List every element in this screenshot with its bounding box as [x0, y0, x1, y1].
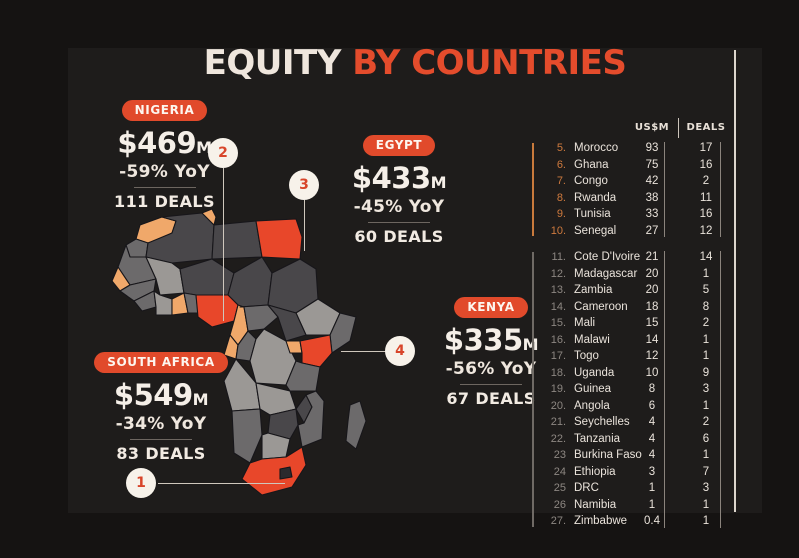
table-row[interactable]: 5.Morocco9317 [542, 140, 743, 157]
country-chad [228, 257, 272, 307]
country-madagascar [346, 401, 366, 449]
table-cell-rank: 19. [542, 381, 566, 397]
table-cell-usm: 38 [628, 190, 676, 206]
table-cell-deals: 16 [684, 206, 728, 222]
callout-kenya-divider [460, 384, 522, 385]
table-cell-deals: 5 [684, 282, 728, 298]
table-cell-usm: 20 [628, 282, 676, 298]
callout-egypt-divider [368, 222, 430, 223]
table-cell-deals: 1 [684, 497, 728, 513]
table-header-usm: US$M [628, 122, 676, 133]
table-cell-rank: 5. [542, 140, 566, 156]
callout-south-africa-yoy: -34% YoY [75, 415, 247, 434]
table-cell-rank: 9. [542, 206, 566, 222]
table-cell-country: Angola [574, 398, 610, 414]
table-cell-deals: 7 [684, 464, 728, 480]
country-kenya [300, 335, 332, 367]
callout-egypt-deals: 60 DEALS [320, 228, 478, 245]
table-cell-country: Namibia [574, 497, 616, 513]
table-group-top-bar [532, 143, 534, 236]
table-cell-deals: 1 [684, 332, 728, 348]
right-accent-line [734, 50, 736, 512]
table-cell-rank: 26 [542, 497, 566, 513]
table-cell-country: DRC [574, 480, 599, 496]
map-marker-4-label: 4 [395, 343, 405, 359]
callout-egypt-amount-value: $433 [352, 161, 431, 195]
table-cell-usm: 4 [628, 414, 676, 430]
map-marker-2-label: 2 [218, 145, 228, 161]
map-marker-3-label: 3 [299, 177, 309, 193]
table-cell-rank: 15. [542, 315, 566, 331]
callout-nigeria-badge: NIGERIA [122, 100, 208, 121]
callout-kenya-amount-value: $335 [444, 323, 523, 357]
table-cell-rank: 13. [542, 282, 566, 298]
table-row[interactable]: 11.Cote D'Ivoire2114 [542, 249, 743, 266]
table-cell-deals: 12 [684, 223, 728, 239]
page-title: EQUITY BY COUNTRIES [68, 46, 762, 80]
table-row[interactable]: 10.Senegal2712 [542, 223, 743, 240]
country-niger [180, 259, 234, 295]
table-cell-rank: 25 [542, 480, 566, 496]
table-row[interactable]: 7.Congo422 [542, 173, 743, 190]
table-cell-rank: 16. [542, 332, 566, 348]
table-cell-deals: 3 [684, 381, 728, 397]
table-cell-rank: 12. [542, 266, 566, 282]
table-cell-usm: 6 [628, 398, 676, 414]
table-row[interactable]: 20.Angola61 [542, 398, 743, 415]
callout-egypt: EGYPT $433M -45% YoY 60 DEALS [320, 135, 478, 245]
callout-south-africa-deals: 83 DEALS [75, 445, 247, 462]
table-cell-usm: 1 [628, 480, 676, 496]
table-cell-deals: 2 [684, 173, 728, 189]
table-header: US$M DEALS [528, 118, 743, 140]
table-row[interactable]: 8.Rwanda3811 [542, 190, 743, 207]
table-cell-country: Uganda [574, 365, 614, 381]
callout-south-africa-amount-value: $549 [114, 378, 193, 412]
connector-line-egypt [304, 200, 305, 251]
table-cell-usm: 10 [628, 365, 676, 381]
table-cell-deals: 2 [684, 414, 728, 430]
country-lesotho [280, 467, 292, 479]
connector-line-south-africa [158, 483, 285, 484]
table-cell-country: Tunisia [574, 206, 611, 222]
map-marker-1[interactable]: 1 [126, 468, 156, 498]
table-cell-rank: 11. [542, 249, 566, 265]
table-header-sep-1 [678, 118, 679, 138]
table-row[interactable]: 19.Guinea83 [542, 381, 743, 398]
table-group-rest-rows: 11.Cote D'Ivoire211412.Madagascar20113.Z… [542, 249, 743, 530]
table-cell-usm: 75 [628, 157, 676, 173]
table-row[interactable]: 18.Uganda109 [542, 365, 743, 382]
table-row[interactable]: 17.Togo121 [542, 348, 743, 365]
table-row[interactable]: 9.Tunisia3316 [542, 206, 743, 223]
map-marker-1-label: 1 [136, 475, 146, 491]
callout-south-africa: SOUTH AFRICA $549M -34% YoY 83 DEALS [75, 352, 247, 462]
table-cell-deals: 8 [684, 299, 728, 315]
table-cell-usm: 8 [628, 381, 676, 397]
table-cell-country: Cameroon [574, 299, 628, 315]
table-row[interactable]: 24Ethiopia37 [542, 464, 743, 481]
table-cell-rank: 7. [542, 173, 566, 189]
table-cell-rank: 8. [542, 190, 566, 206]
map-marker-2[interactable]: 2 [208, 138, 238, 168]
country-ranking-table: US$M DEALS 5.Morocco93176.Ghana75167.Con… [528, 118, 743, 530]
table-row[interactable]: 25DRC13 [542, 480, 743, 497]
table-row[interactable]: 16.Malawi141 [542, 332, 743, 349]
table-cell-deals: 1 [684, 398, 728, 414]
table-cell-rank: 14. [542, 299, 566, 315]
table-cell-deals: 2 [684, 315, 728, 331]
country-libya [212, 221, 262, 259]
table-cell-deals: 1 [684, 266, 728, 282]
connector-line-nigeria [223, 168, 224, 321]
table-group-gap [528, 239, 743, 249]
table-cell-deals: 17 [684, 140, 728, 156]
table-cell-usm: 14 [628, 332, 676, 348]
title-part-equity: EQUITY [204, 43, 353, 83]
table-cell-country: Togo [574, 348, 599, 364]
connector-line-kenya [341, 351, 386, 352]
table-cell-rank: 6. [542, 157, 566, 173]
table-cell-usm: 4 [628, 447, 676, 463]
table-cell-deals: 1 [684, 348, 728, 364]
table-cell-rank: 24 [542, 464, 566, 480]
table-cell-country: Rwanda [574, 190, 616, 206]
callout-kenya-badge: KENYA [454, 297, 527, 318]
table-row[interactable]: 21.Seychelles42 [542, 414, 743, 431]
table-row[interactable]: 22.Tanzania46 [542, 431, 743, 448]
table-group-top: 5.Morocco93176.Ghana75167.Congo4228.Rwan… [528, 140, 743, 239]
table-cell-country: Tanzania [574, 431, 620, 447]
table-cell-rank: 21. [542, 414, 566, 430]
table-row[interactable]: 27.Zimbabwe0.41 [542, 513, 743, 530]
table-row[interactable]: 26Namibia11 [542, 497, 743, 514]
table-cell-deals: 3 [684, 480, 728, 496]
country-egypt [256, 219, 302, 259]
table-cell-country: Mali [574, 315, 595, 331]
callout-egypt-yoy: -45% YoY [320, 198, 478, 217]
table-cell-deals: 11 [684, 190, 728, 206]
table-cell-usm: 12 [628, 348, 676, 364]
table-cell-deals: 16 [684, 157, 728, 173]
table-row[interactable]: 12.Madagascar201 [542, 266, 743, 283]
table-cell-country: Malawi [574, 332, 610, 348]
table-group-top-rows: 5.Morocco93176.Ghana75167.Congo4228.Rwan… [542, 140, 743, 239]
table-cell-usm: 93 [628, 140, 676, 156]
table-cell-deals: 9 [684, 365, 728, 381]
table-header-deals: DEALS [684, 122, 728, 133]
table-cell-country: Zambia [574, 282, 612, 298]
table-cell-usm: 18 [628, 299, 676, 315]
table-cell-usm: 42 [628, 173, 676, 189]
table-cell-usm: 20 [628, 266, 676, 282]
callout-egypt-badge: EGYPT [363, 135, 435, 156]
table-row[interactable]: 14.Cameroon188 [542, 299, 743, 316]
table-group-rest-bar [532, 252, 534, 527]
callout-egypt-amount-suffix: M [431, 173, 446, 192]
table-cell-rank: 22. [542, 431, 566, 447]
table-row[interactable]: 13.Zambia205 [542, 282, 743, 299]
table-cell-rank: 10. [542, 223, 566, 239]
table-cell-country: Ethiopia [574, 464, 616, 480]
table-cell-usm: 4 [628, 431, 676, 447]
table-cell-country: Congo [574, 173, 608, 189]
table-cell-country: Senegal [574, 223, 616, 239]
table-cell-usm: 33 [628, 206, 676, 222]
callout-egypt-amount: $433M [320, 163, 478, 198]
title-part-by-countries: BY COUNTRIES [352, 43, 626, 83]
table-cell-usm: 3 [628, 464, 676, 480]
map-marker-3[interactable]: 3 [289, 170, 319, 200]
table-cell-usm: 0.4 [628, 513, 676, 529]
table-cell-country: Morocco [574, 140, 618, 156]
table-cell-deals: 6 [684, 431, 728, 447]
table-cell-deals: 1 [684, 447, 728, 463]
table-cell-rank: 18. [542, 365, 566, 381]
table-cell-country: Seychelles [574, 414, 630, 430]
callout-south-africa-amount: $549M [75, 380, 247, 415]
table-cell-deals: 14 [684, 249, 728, 265]
table-cell-rank: 20. [542, 398, 566, 414]
table-row[interactable]: 15.Mali152 [542, 315, 743, 332]
infographic-root: EQUITY BY COUNTRIES [0, 0, 799, 558]
table-cell-usm: 1 [628, 497, 676, 513]
callout-south-africa-badge: SOUTH AFRICA [94, 352, 227, 373]
map-marker-4[interactable]: 4 [385, 336, 415, 366]
table-cell-rank: 17. [542, 348, 566, 364]
callout-nigeria-amount-value: $469 [117, 126, 196, 160]
table-cell-usm: 21 [628, 249, 676, 265]
callout-nigeria-divider [134, 187, 196, 188]
table-cell-country: Ghana [574, 157, 609, 173]
callout-south-africa-divider [130, 439, 192, 440]
table-cell-country: Guinea [574, 381, 611, 397]
table-cell-rank: 27. [542, 513, 566, 529]
table-row[interactable]: 23Burkina Faso41 [542, 447, 743, 464]
table-cell-usm: 15 [628, 315, 676, 331]
country-nigeria [196, 295, 238, 327]
table-row[interactable]: 6.Ghana7516 [542, 157, 743, 174]
table-cell-deals: 1 [684, 513, 728, 529]
table-cell-rank: 23 [542, 447, 566, 463]
table-cell-usm: 27 [628, 223, 676, 239]
callout-south-africa-amount-suffix: M [193, 390, 208, 409]
table-cell-country: Zimbabwe [574, 513, 627, 529]
table-group-rest: 11.Cote D'Ivoire211412.Madagascar20113.Z… [528, 249, 743, 530]
